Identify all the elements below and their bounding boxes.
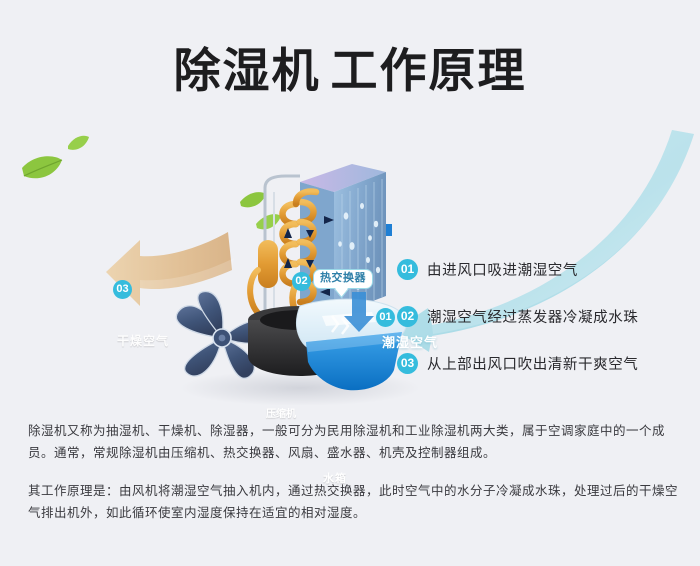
body-paragraph-2: 其工作原理是：由风机将潮湿空气抽入机内，通过热交换器，此时空气中的水分子冷凝成水… (28, 480, 678, 524)
diagram-badge-02: 02 (292, 272, 311, 291)
heat-exchanger-callout: 热交换器 (313, 269, 373, 289)
diagram-badge-01: 01 (376, 308, 395, 327)
leaf-icon (22, 156, 62, 178)
legend-item-01: 01 由进风口吸进潮湿空气 (397, 258, 687, 280)
legend-item-02: 02 潮湿空气经过蒸发器冷凝成水珠 (397, 305, 687, 327)
legend-badge-01: 01 (397, 259, 418, 280)
leaf-icon (68, 136, 89, 150)
legend-text-02: 潮湿空气经过蒸发器冷凝成水珠 (427, 306, 638, 327)
legend-badge-03: 03 (397, 353, 418, 374)
leaf-icon (240, 192, 266, 207)
diagram-badge-03: 03 (113, 280, 132, 299)
leaf-icon (256, 214, 281, 229)
legend-text-03: 从上部出风口吹出清新干爽空气 (427, 353, 638, 374)
compressor-label: 压缩机 (266, 405, 296, 420)
infographic-page: 除湿机工作原理 (0, 0, 700, 566)
body-copy: 除湿机又称为抽湿机、干燥机、除湿器，一般可分为民用除湿机和工业除湿机两大类，属于… (28, 420, 678, 524)
page-title: 除湿机工作原理 (0, 32, 700, 101)
legend-badge-02: 02 (397, 306, 418, 327)
page-title-part1: 除湿机 (174, 44, 321, 97)
body-paragraph-1: 除湿机又称为抽湿机、干燥机、除湿器，一般可分为民用除湿机和工业除湿机两大类，属于… (28, 420, 678, 464)
legend-text-01: 由进风口吸进潮湿空气 (427, 259, 578, 280)
leaf-icon-group (22, 136, 281, 230)
page-title-part2: 工作原理 (331, 44, 527, 97)
legend-item-03: 03 从上部出风口吹出清新干爽空气 (397, 352, 687, 374)
legend-list: 01 由进风口吸进潮湿空气 02 潮湿空气经过蒸发器冷凝成水珠 03 从上部出风… (397, 258, 687, 399)
dry-air-label: 干燥空气 (117, 332, 169, 349)
